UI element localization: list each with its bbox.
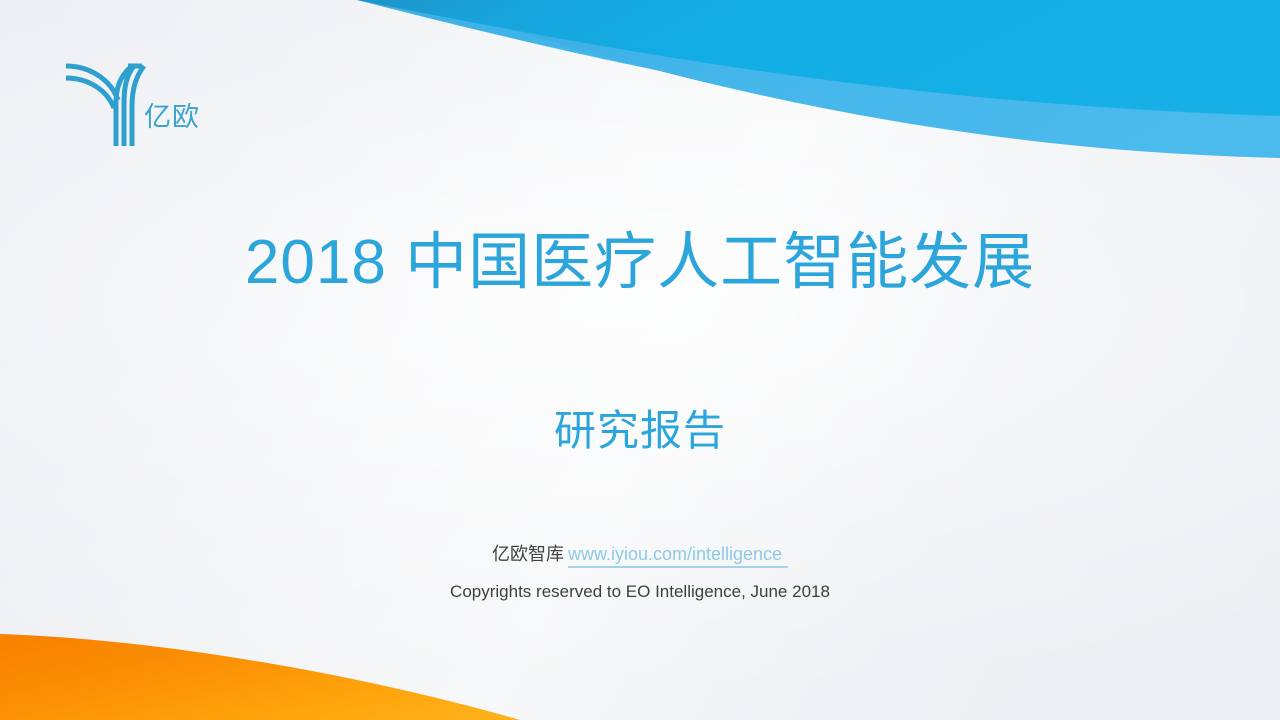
- page-subtitle: 研究报告: [190, 408, 1090, 454]
- intelligence-site-link[interactable]: www.iyiou.com/intelligence: [568, 544, 788, 568]
- slide-canvas: 亿欧 2018 中国医疗人工智能发展 研究报告 亿欧智库www.iyiou.co…: [0, 0, 1280, 720]
- page-title: 2018 中国医疗人工智能发展: [190, 228, 1090, 298]
- credit-line: 亿欧智库www.iyiou.com/intelligence: [140, 543, 1140, 566]
- copyright-notice: Copyrights reserved to EO Intelligence, …: [140, 582, 1140, 602]
- credit-label: 亿欧智库: [492, 544, 564, 564]
- slide-content: 2018 中国医疗人工智能发展 研究报告 亿欧智库www.iyiou.com/i…: [0, 0, 1280, 720]
